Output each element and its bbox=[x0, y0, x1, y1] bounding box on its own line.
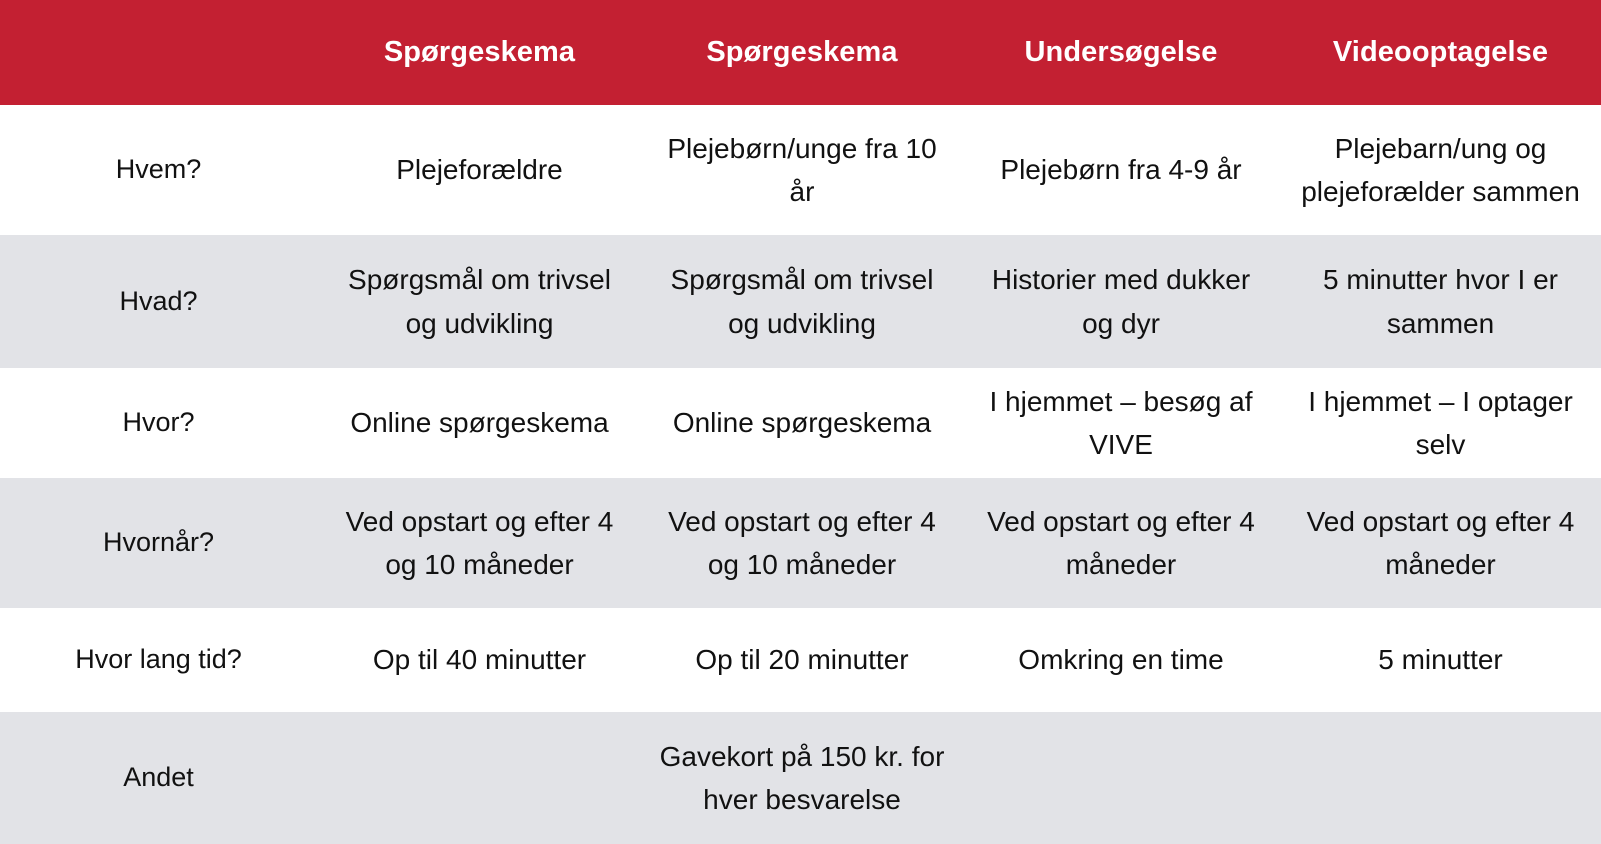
cell-hvornaar-survey: Ved opstart og efter 4 måneder bbox=[962, 478, 1280, 608]
cell-hvem-questionnaire-children: Plejebørn/unge fra 10 år bbox=[642, 105, 962, 235]
cell-hvornaar-questionnaire-children: Ved opstart og efter 4 og 10 måneder bbox=[642, 478, 962, 608]
row-label-andet: Andet bbox=[0, 712, 317, 844]
cell-hvem-questionnaire-foster-parents: Plejeforældre bbox=[317, 105, 642, 235]
row-label-hvor-lang-tid: Hvor lang tid? bbox=[0, 608, 317, 712]
cell-hvor-lang-tid-survey: Omkring en time bbox=[962, 608, 1280, 712]
row-label-hvornaar: Hvornår? bbox=[0, 478, 317, 608]
cell-andet-questionnaire-foster-parents bbox=[317, 712, 642, 844]
table-row: Hvad? Spørgsmål om trivsel og udvikling … bbox=[0, 235, 1601, 368]
cell-hvor-lang-tid-video-recording: 5 minutter bbox=[1280, 608, 1601, 712]
table-row: Hvor? Online spørgeskema Online spørgesk… bbox=[0, 368, 1601, 478]
table-header: Spørgeskema Spørgeskema Undersøgelse Vid… bbox=[0, 0, 1601, 105]
table-body: Hvem? Plejeforældre Plejebørn/unge fra 1… bbox=[0, 105, 1601, 844]
cell-hvornaar-video-recording: Ved opstart og efter 4 måneder bbox=[1280, 478, 1601, 608]
cell-hvad-questionnaire-children: Spørgsmål om trivsel og udvikling bbox=[642, 235, 962, 368]
cell-andet-video-recording bbox=[1280, 712, 1601, 844]
cell-hvad-survey: Historier med dukker og dyr bbox=[962, 235, 1280, 368]
table-header-row: Spørgeskema Spørgeskema Undersøgelse Vid… bbox=[0, 0, 1601, 105]
cell-hvor-video-recording: I hjemmet – I optager selv bbox=[1280, 368, 1601, 478]
cell-andet-questionnaire-children: Gavekort på 150 kr. for hver besvarelse bbox=[642, 712, 962, 844]
cell-hvornaar-questionnaire-foster-parents: Ved opstart og efter 4 og 10 måneder bbox=[317, 478, 642, 608]
cell-hvor-questionnaire-foster-parents: Online spørgeskema bbox=[317, 368, 642, 478]
header-cell-video-recording: Videooptagelse bbox=[1280, 0, 1601, 105]
header-cell-survey: Undersøgelse bbox=[962, 0, 1280, 105]
cell-hvad-questionnaire-foster-parents: Spørgsmål om trivsel og udvikling bbox=[317, 235, 642, 368]
table-row: Hvor lang tid? Op til 40 minutter Op til… bbox=[0, 608, 1601, 712]
header-cell-questionnaire-children: Spørgeskema bbox=[642, 0, 962, 105]
cell-hvor-lang-tid-questionnaire-foster-parents: Op til 40 minutter bbox=[317, 608, 642, 712]
cell-hvor-survey: I hjemmet – besøg af VIVE bbox=[962, 368, 1280, 478]
cell-hvor-lang-tid-questionnaire-children: Op til 20 minutter bbox=[642, 608, 962, 712]
cell-hvor-questionnaire-children: Online spørgeskema bbox=[642, 368, 962, 478]
table-row: Andet Gavekort på 150 kr. for hver besva… bbox=[0, 712, 1601, 844]
comparison-table: Spørgeskema Spørgeskema Undersøgelse Vid… bbox=[0, 0, 1601, 844]
table-row: Hvornår? Ved opstart og efter 4 og 10 må… bbox=[0, 478, 1601, 608]
cell-andet-survey bbox=[962, 712, 1280, 844]
row-label-hvem: Hvem? bbox=[0, 105, 317, 235]
header-corner-cell bbox=[0, 0, 317, 105]
row-label-hvor: Hvor? bbox=[0, 368, 317, 478]
header-cell-questionnaire-foster-parents: Spørgeskema bbox=[317, 0, 642, 105]
comparison-table-container: Spørgeskema Spørgeskema Undersøgelse Vid… bbox=[0, 0, 1601, 844]
row-label-hvad: Hvad? bbox=[0, 235, 317, 368]
table-row: Hvem? Plejeforældre Plejebørn/unge fra 1… bbox=[0, 105, 1601, 235]
cell-hvem-survey: Plejebørn fra 4-9 år bbox=[962, 105, 1280, 235]
cell-hvem-video-recording: Plejebarn/ung og plejeforælder sammen bbox=[1280, 105, 1601, 235]
cell-hvad-video-recording: 5 minutter hvor I er sammen bbox=[1280, 235, 1601, 368]
